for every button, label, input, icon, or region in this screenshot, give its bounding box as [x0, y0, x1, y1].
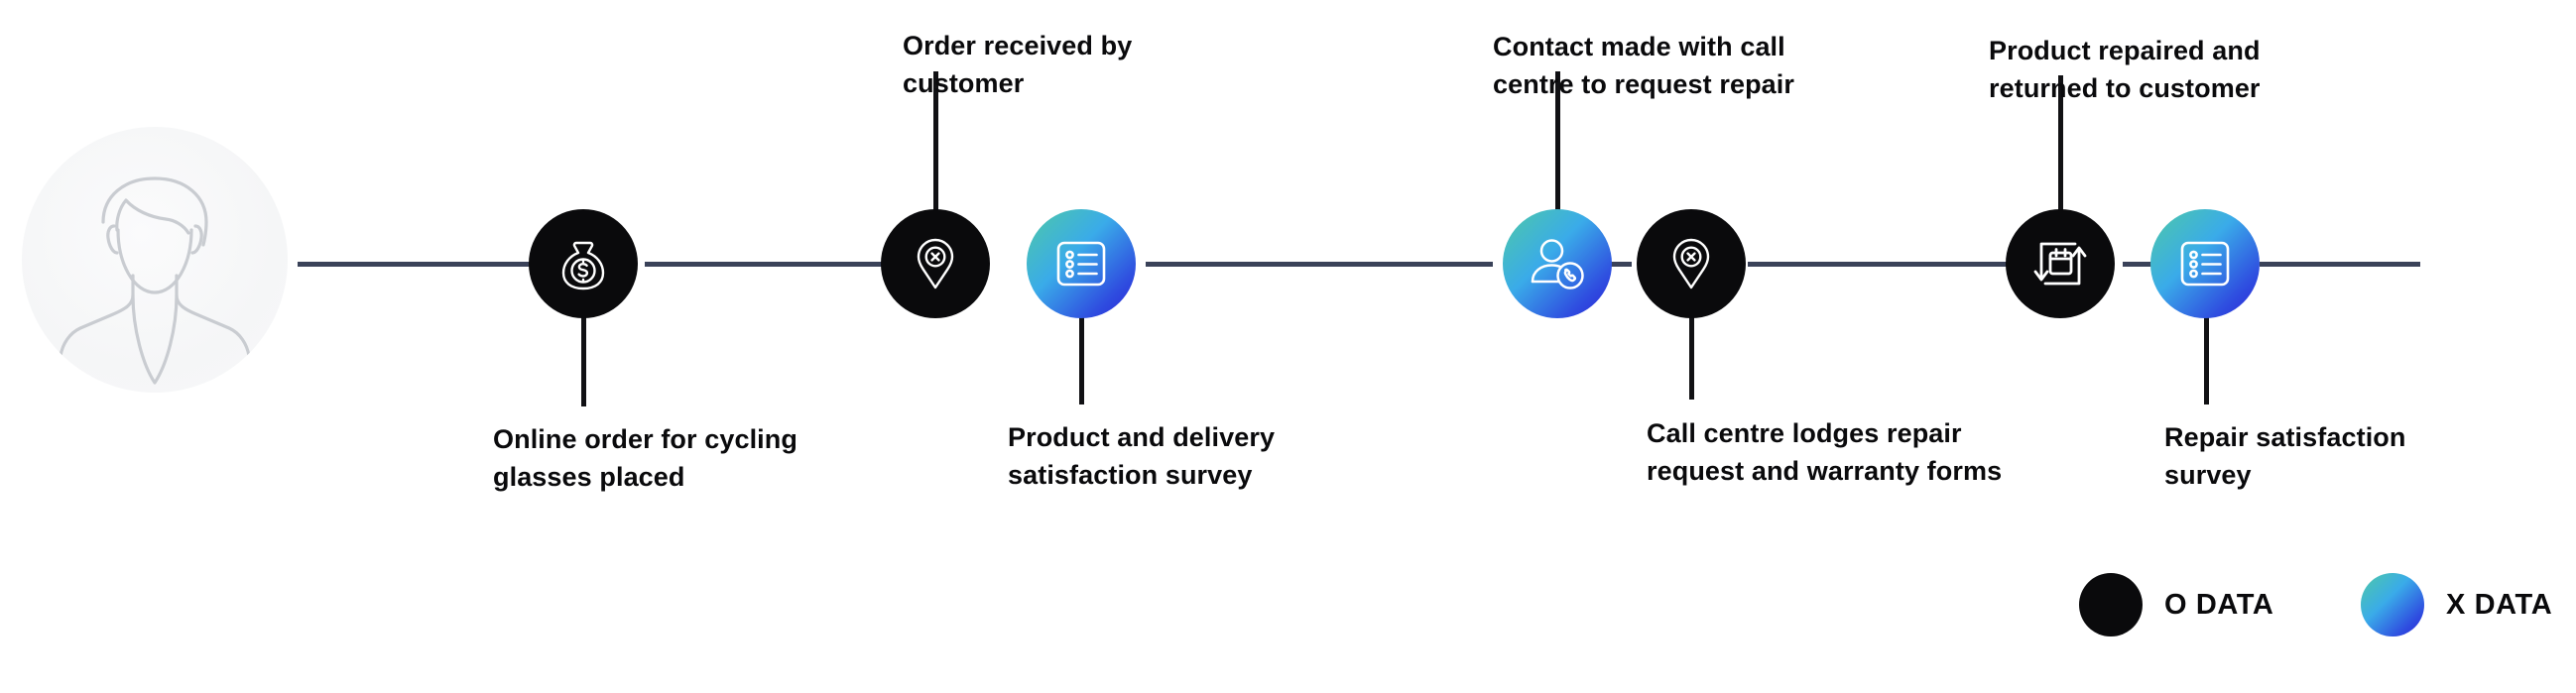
customer-avatar: [22, 127, 288, 393]
caption-line: satisfaction survey: [1008, 456, 1355, 494]
stem-online-order: [581, 315, 586, 406]
stem-repair-lodged: [1689, 315, 1694, 400]
node-product-repaired[interactable]: [2006, 209, 2115, 318]
caption-line: Online order for cycling: [493, 420, 890, 458]
timeline-segment-3: [1146, 262, 1493, 267]
stem-repair-survey: [2204, 315, 2209, 404]
caption-delivery-survey: Product and delivery satisfaction survey: [1008, 418, 1355, 494]
map-pin-x-icon: [907, 235, 964, 292]
caption-line: returned to customer: [1989, 69, 2346, 107]
stem-delivery-survey: [1079, 315, 1084, 404]
legend-label-o-data: O DATA: [2164, 589, 2273, 622]
person-phone-icon: [1528, 234, 1587, 293]
node-delivery-survey[interactable]: [1027, 209, 1136, 318]
caption-line: request and warranty forms: [1647, 452, 2083, 490]
legend-swatch-gradient: [2361, 573, 2424, 636]
legend-item-o-data: O DATA: [2079, 573, 2273, 636]
map-pin-x-icon: [1662, 235, 1720, 292]
timeline-segment-7: [2260, 262, 2420, 267]
caption-line: Product repaired and: [1989, 32, 2346, 69]
caption-online-order: Online order for cycling glasses placed: [493, 420, 890, 496]
calendar-return-icon: [2030, 234, 2090, 293]
caption-line: Product and delivery: [1008, 418, 1355, 456]
caption-order-received: Order received by customer: [903, 27, 1230, 102]
legend-swatch-dark: [2079, 573, 2143, 636]
caption-repair-lodged: Call centre lodges repair request and wa…: [1647, 414, 2083, 490]
node-online-order[interactable]: [529, 209, 638, 318]
caption-product-repaired: Product repaired and returned to custome…: [1989, 32, 2346, 107]
legend-item-x-data: X DATA: [2361, 573, 2552, 636]
caption-line: Repair satisfaction: [2164, 418, 2492, 456]
legend-label-x-data: X DATA: [2446, 589, 2552, 622]
journey-diagram: Order received by customer Contact made …: [0, 0, 2576, 693]
timeline-segment-1: [298, 262, 531, 267]
node-call-centre-contact[interactable]: [1503, 209, 1612, 318]
node-repair-survey[interactable]: [2150, 209, 2260, 318]
caption-line: glasses placed: [493, 458, 890, 496]
caption-line: survey: [2164, 456, 2492, 494]
caption-line: Call centre lodges repair: [1647, 414, 2083, 452]
money-bag-icon: [554, 235, 612, 292]
caption-line: centre to request repair: [1493, 65, 1890, 103]
caption-line: customer: [903, 64, 1230, 102]
caption-call-centre-contact: Contact made with call centre to request…: [1493, 28, 1890, 103]
timeline-segment-2: [645, 262, 883, 267]
survey-checklist-icon: [2176, 235, 2234, 292]
caption-line: Order received by: [903, 27, 1230, 64]
node-repair-lodged[interactable]: [1637, 209, 1746, 318]
survey-checklist-icon: [1052, 235, 1110, 292]
caption-repair-survey: Repair satisfaction survey: [2164, 418, 2492, 494]
node-order-received[interactable]: [881, 209, 990, 318]
timeline-segment-5: [1748, 262, 2016, 267]
caption-line: Contact made with call: [1493, 28, 1890, 65]
